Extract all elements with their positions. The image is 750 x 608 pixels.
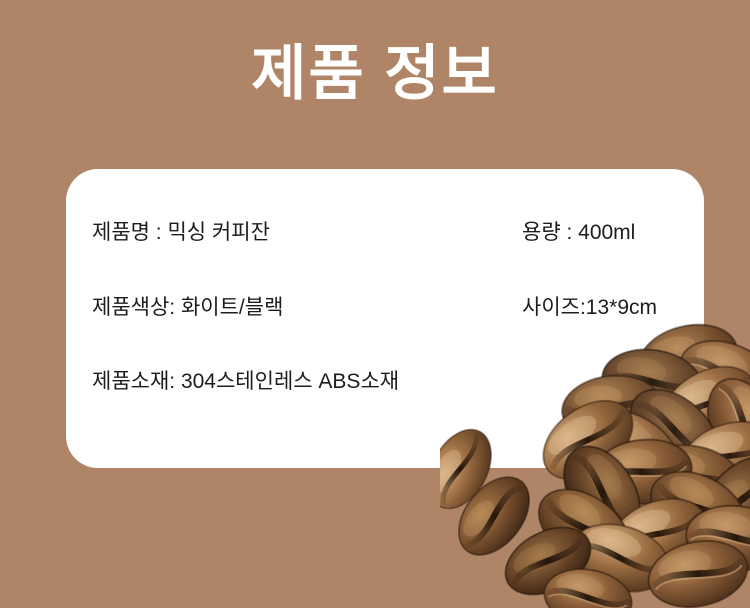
page-title: 제품 정보: [0, 38, 750, 110]
product-size-label: 사이즈:13*9cm: [522, 293, 657, 323]
product-info-card: 제품명 : 믹싱 커피잔 용량 : 400ml 제품색상: 화이트/블랙 사이즈…: [66, 169, 704, 468]
info-row: 제품명 : 믹싱 커피잔 용량 : 400ml: [66, 218, 704, 248]
capacity-label: 용량 : 400ml: [522, 218, 635, 248]
info-row: 제품소재: 304스테인레스 ABS소재: [66, 367, 704, 397]
product-name-label: 제품명 : 믹싱 커피잔: [92, 218, 270, 248]
product-color-label: 제품색상: 화이트/블랙: [92, 293, 283, 323]
product-material-label: 제품소재: 304스테인레스 ABS소재: [92, 367, 399, 397]
product-info-page: 제품 정보 제품명 : 믹싱 커피잔 용량 : 400ml 제품색상: 화이트/…: [0, 0, 750, 608]
info-row: 제품색상: 화이트/블랙 사이즈:13*9cm: [66, 293, 704, 323]
